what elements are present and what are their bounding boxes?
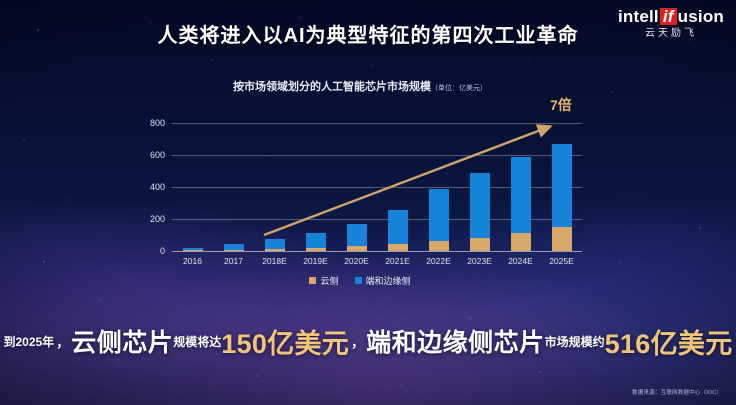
slide-headline: 人类将进入以AI为典型特征的第四次工业革命 <box>0 19 736 48</box>
y-axis-tick-0: 0 <box>160 246 165 256</box>
bar-segment-edge-2020E <box>347 224 367 246</box>
bar-2021E[interactable] <box>388 210 408 251</box>
bar-2023E[interactable] <box>470 173 490 251</box>
bar-segment-cloud-2020E <box>347 246 367 251</box>
bar-2022E[interactable] <box>429 189 449 251</box>
bar-segment-cloud-2018E <box>265 249 285 251</box>
data-source-note: 数据来源：互联网数据中心（IDC） <box>632 388 722 396</box>
growth-multiplier-label: 7倍 <box>550 95 572 115</box>
legend-label-edge: 端和边缘侧 <box>366 274 411 287</box>
x-axis-tick-2018E: 2018E <box>262 256 287 266</box>
bar-segment-edge-2022E <box>429 189 449 241</box>
bar-2025E[interactable] <box>552 144 572 251</box>
bar-segment-edge-2019E <box>306 233 326 247</box>
bar-segment-edge-2018E <box>265 239 285 249</box>
legend-swatch-edge-icon <box>355 277 362 284</box>
banner-part1: 到2025年 <box>3 333 54 350</box>
x-axis-tick-2017: 2017 <box>224 256 243 266</box>
x-axis-tick-2025E: 2025E <box>549 256 574 266</box>
chart-container: 按市场领域划分的人工智能芯片市场规模（单位：亿美元） 800 600 400 2… <box>120 78 600 298</box>
banner-cloud-chip: 云侧芯片 <box>71 323 173 359</box>
x-axis-tick-2021E: 2021E <box>385 256 410 266</box>
bar-segment-cloud-2025E <box>552 227 572 251</box>
banner-comma2: ， <box>349 332 366 351</box>
chart-title-text: 按市场领域划分的人工智能芯片市场规模 <box>233 81 431 93</box>
legend-item-cloud[interactable]: 云侧 <box>309 274 338 287</box>
summary-banner: 到2025年 ， 云侧芯片 规模将达 150亿美元 ， 端和边缘侧芯片 市场规模… <box>0 318 736 364</box>
bar-2016[interactable] <box>183 248 203 251</box>
bar-2017[interactable] <box>224 244 244 251</box>
x-axis-tick-2022E: 2022E <box>426 256 451 266</box>
y-axis-tick-800: 800 <box>150 118 165 128</box>
banner-edge-value: 516亿美元 <box>605 322 733 361</box>
bar-segment-edge-2023E <box>470 173 490 238</box>
bar-segment-edge-2024E <box>511 157 531 233</box>
bar-segment-cloud-2023E <box>470 238 490 251</box>
bar-2024E[interactable] <box>511 157 531 251</box>
x-axis-tick-2016: 2016 <box>183 256 202 266</box>
bar-segment-cloud-2021E <box>388 244 408 251</box>
chart-unit-label: （单位：亿美元） <box>431 85 487 92</box>
slide-root: intellifusion 云天励飞 人类将进入以AI为典型特征的第四次工业革命… <box>0 0 736 405</box>
x-axis-tick-2023E: 2023E <box>467 256 492 266</box>
x-axis-tick-2020E: 2020E <box>344 256 369 266</box>
bar-segment-edge-2021E <box>388 210 408 244</box>
bar-series-group <box>172 123 582 251</box>
bar-2019E[interactable] <box>306 233 326 251</box>
banner-cloud-value: 150亿美元 <box>221 322 349 361</box>
y-axis-tick-400: 400 <box>150 182 165 192</box>
legend-swatch-cloud-icon <box>309 277 316 284</box>
bar-segment-edge-2025E <box>552 144 572 227</box>
legend-label-cloud: 云侧 <box>320 274 338 287</box>
banner-edge-chip: 端和边缘侧芯片 <box>366 323 545 359</box>
x-axis-tick-2019E: 2019E <box>303 256 328 266</box>
banner-comma1: ， <box>54 332 71 351</box>
bar-segment-cloud-2022E <box>429 241 449 251</box>
y-axis-tick-200: 200 <box>150 214 165 224</box>
bar-segment-cloud-2019E <box>306 248 326 251</box>
bar-segment-cloud-2016 <box>183 250 203 251</box>
bar-2018E[interactable] <box>265 239 285 251</box>
banner-part3: 规模将达 <box>173 333 221 350</box>
banner-part6: 市场规模约 <box>545 333 605 350</box>
x-axis-tick-2024E: 2024E <box>508 256 533 266</box>
bar-segment-cloud-2017 <box>224 250 244 251</box>
bar-segment-cloud-2024E <box>511 233 531 251</box>
chart-legend: 云侧 端和边缘侧 <box>120 274 600 287</box>
legend-item-edge[interactable]: 端和边缘侧 <box>355 274 411 287</box>
chart-plot-area: 800 600 400 200 0 201620172018E2019E2020… <box>172 123 582 251</box>
bar-2020E[interactable] <box>347 224 367 251</box>
chart-title: 按市场领域划分的人工智能芯片市场规模（单位：亿美元） <box>120 78 600 94</box>
y-axis-tick-600: 600 <box>150 150 165 160</box>
axis-baseline <box>172 251 582 252</box>
